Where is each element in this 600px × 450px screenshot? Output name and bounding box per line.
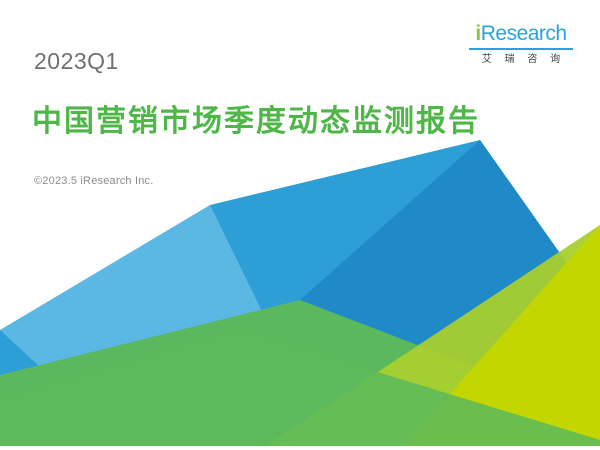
iresearch-logo: iResearch 艾 瑞 咨 询 [466, 22, 576, 66]
copyright-notice: ©2023.5 iResearch Inc. [34, 175, 154, 187]
report-quarter: 2023Q1 [34, 48, 119, 75]
logo-chinese-name: 艾 瑞 咨 询 [466, 53, 576, 66]
logo-wordmark-rest: Research [481, 22, 567, 45]
report-cover: iResearch 艾 瑞 咨 询 2023Q1 中国营销市场季度动态监测报告 … [0, 0, 600, 450]
logo-divider [469, 48, 573, 50]
shape-bottom-white-strip [0, 446, 600, 450]
logo-wordmark: iResearch [466, 22, 576, 46]
report-title: 中国营销市场季度动态监测报告 [32, 96, 480, 140]
